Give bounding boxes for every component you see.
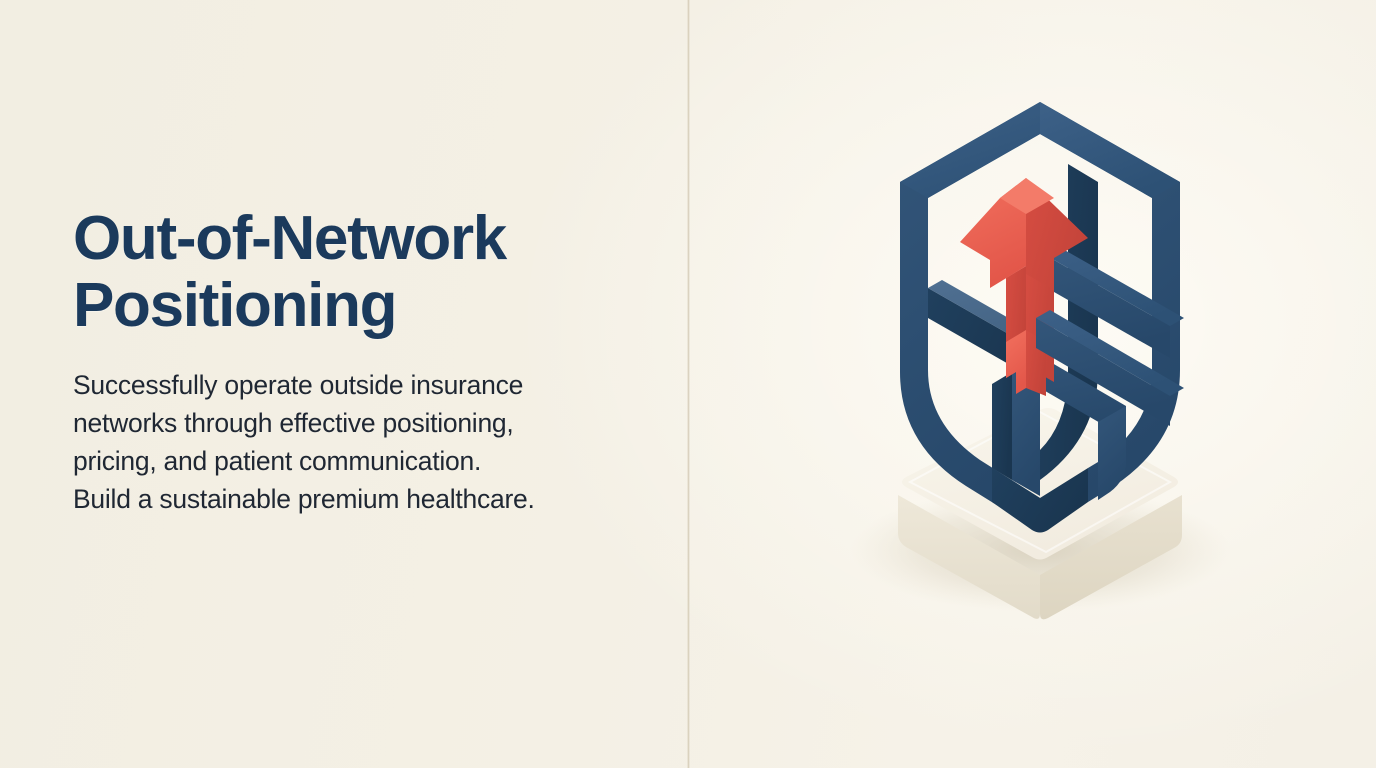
page-subtitle: Successfully operate outside insurance n…	[73, 366, 633, 519]
page-title: Out-of-Network Positioning	[73, 206, 633, 340]
strut-left-diagonal-shade	[992, 372, 1012, 480]
slide-canvas: Out-of-Network Positioning Successfully …	[0, 0, 1376, 768]
panel-divider	[687, 0, 690, 768]
text-panel: Out-of-Network Positioning Successfully …	[73, 206, 633, 519]
shield-illustration	[840, 120, 1240, 640]
